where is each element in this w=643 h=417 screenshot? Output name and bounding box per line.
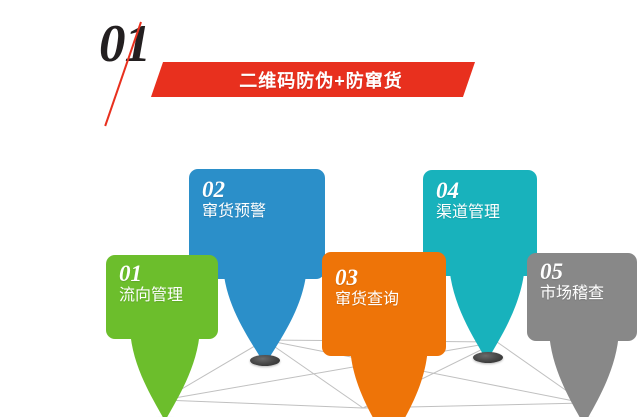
pin-tail-icon [223, 265, 307, 367]
pin-01-box[interactable]: 01 流向管理 [106, 255, 218, 339]
pin-05-number: 05 [540, 260, 626, 284]
pin-tail-icon [130, 329, 200, 417]
pin-04-base-marker [473, 352, 503, 363]
pin-03-label: 窜货查询 [335, 290, 435, 310]
pin-03[interactable]: 03 窜货查询 [322, 252, 456, 417]
pin-01-number: 01 [119, 262, 207, 286]
pin-02-base-marker [250, 355, 280, 366]
slide-canvas: 01 二维码防伪+防窜货 02 [0, 0, 643, 417]
page-title: 二维码防伪+防窜货 [186, 62, 456, 97]
pin-01-label: 流向管理 [119, 286, 207, 306]
pin-05[interactable]: 05 市场稽查 [527, 253, 643, 411]
pin-03-number: 03 [335, 266, 435, 290]
pin-04-number: 04 [436, 179, 526, 203]
pin-02-number: 02 [202, 178, 314, 202]
pin-tail-icon [350, 346, 428, 417]
pin-02-label: 窜货预警 [202, 202, 314, 222]
pin-04-label: 渠道管理 [436, 203, 526, 223]
pin-05-box[interactable]: 05 市场稽查 [527, 253, 637, 341]
pin-03-box[interactable]: 03 窜货查询 [322, 252, 446, 356]
pin-01[interactable]: 01 流向管理 [106, 255, 230, 407]
pin-tail-icon [449, 263, 525, 363]
slide-header: 01 二维码防伪+防窜货 [0, 0, 643, 150]
pin-tail-icon [549, 331, 619, 417]
pin-network-diagram: 02 窜货预警 04 渠道管理 01 流向管理 [0, 145, 643, 417]
pin-05-label: 市场稽查 [540, 284, 626, 304]
